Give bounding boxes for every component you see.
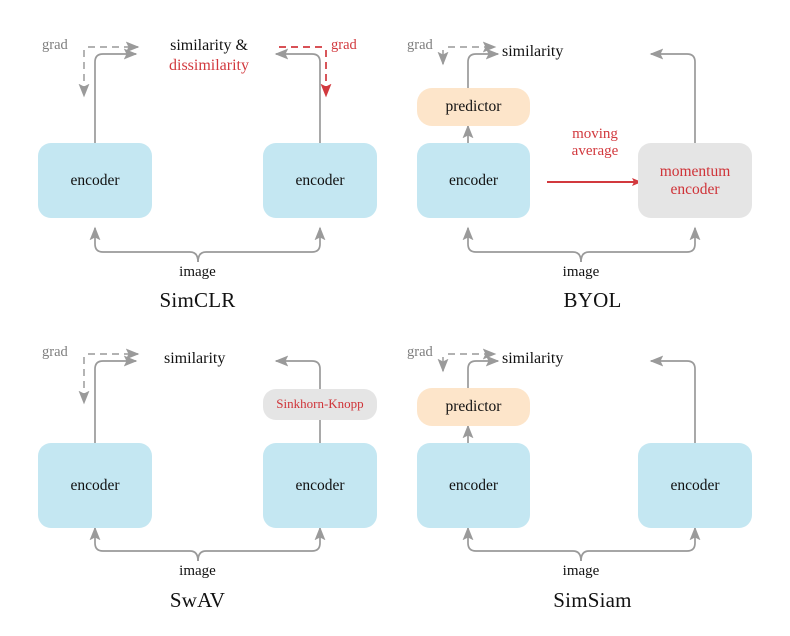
simclr-encoder-right-label: encoder — [295, 172, 344, 189]
simsiam-image-label: image — [395, 563, 767, 580]
byol-momentum-line1: momentum — [660, 163, 731, 180]
swav-title: SwAV — [0, 588, 395, 613]
byol-encoder[interactable]: encoder — [417, 143, 530, 218]
wire-right-encoder-to-similarity — [276, 54, 320, 143]
wire-image-to-right-encoder — [198, 228, 320, 262]
byol-title: BYOL — [395, 288, 790, 313]
byol-wire-predictor-to-similarity — [468, 54, 498, 88]
byol-wire-image-to-momentum — [581, 228, 695, 262]
byol-momentum-line2: encoder — [670, 181, 719, 198]
byol-momentum-encoder[interactable]: momentum encoder — [638, 143, 752, 218]
swav-sinkhorn-label: Sinkhorn-Knopp — [276, 397, 363, 412]
simsiam-grad-label: grad — [407, 344, 433, 361]
swav-image-label: image — [0, 563, 395, 580]
simclr-objective-label: similarity & dissimilarity — [155, 36, 263, 75]
panel-simsiam: predictor encoder encoder grad similarit… — [395, 318, 790, 636]
swav-sinkhorn-knopp[interactable]: Sinkhorn-Knopp — [263, 389, 377, 420]
swav-encoder-left-label: encoder — [70, 477, 119, 494]
byol-moving-line1: moving — [545, 126, 645, 143]
simclr-encoder-left-label: encoder — [70, 172, 119, 189]
byol-moving-average-label: moving average — [545, 126, 645, 161]
swav-encoder-left[interactable]: encoder — [38, 443, 152, 528]
panel-byol: predictor encoder momentum encoder grad … — [395, 0, 790, 318]
simsiam-wire-predictor-to-similarity — [468, 361, 498, 388]
byol-predictor-label: predictor — [446, 98, 502, 115]
swav-grad-label: grad — [42, 344, 68, 361]
swav-encoder-right[interactable]: encoder — [263, 443, 377, 528]
byol-predictor[interactable]: predictor — [417, 88, 530, 126]
simclr-objective-line2: dissimilarity — [155, 56, 263, 76]
simclr-objective-line1: similarity & — [170, 37, 248, 54]
simsiam-encoder-left[interactable]: encoder — [417, 443, 530, 528]
simclr-grad-right-label: grad — [331, 37, 357, 54]
byol-image-label: image — [395, 264, 767, 281]
panel-swav: Sinkhorn-Knopp encoder encoder grad simi… — [0, 318, 395, 636]
panel-simclr: encoder encoder grad grad similarity & d… — [0, 0, 395, 318]
simclr-encoder-right[interactable]: encoder — [263, 143, 377, 218]
simclr-title: SimCLR — [0, 288, 395, 313]
byol-grad-label: grad — [407, 37, 433, 54]
simclr-grad-left-label: grad — [42, 37, 68, 54]
swav-wire-left-encoder-to-similarity — [95, 361, 136, 443]
simsiam-wire-right-encoder-to-similarity — [651, 361, 695, 443]
swav-wire-image-to-left-encoder — [95, 528, 198, 561]
simsiam-encoder-right[interactable]: encoder — [638, 443, 752, 528]
byol-wire-momentum-to-similarity — [651, 54, 695, 143]
byol-objective-label: similarity — [502, 43, 563, 61]
simsiam-objective-label: similarity — [502, 350, 563, 368]
wire-image-to-left-encoder — [95, 228, 198, 262]
simsiam-title: SimSiam — [395, 588, 790, 613]
simclr-image-label: image — [0, 264, 395, 281]
byol-encoder-label: encoder — [449, 172, 498, 189]
swav-wire-image-to-right-encoder — [198, 528, 320, 561]
simsiam-encoder-right-label: encoder — [670, 477, 719, 494]
byol-wire-image-to-encoder — [468, 228, 581, 262]
wire-left-encoder-to-similarity — [95, 54, 136, 143]
simsiam-predictor-label: predictor — [446, 398, 502, 415]
simsiam-wire-image-to-right-encoder — [581, 528, 695, 561]
simclr-encoder-left[interactable]: encoder — [38, 143, 152, 218]
swav-encoder-right-label: encoder — [295, 477, 344, 494]
simsiam-encoder-left-label: encoder — [449, 477, 498, 494]
byol-moving-line2: average — [545, 143, 645, 160]
ssl-methods-figure: encoder encoder grad grad similarity & d… — [0, 0, 790, 636]
simsiam-predictor[interactable]: predictor — [417, 388, 530, 426]
simsiam-wire-image-to-left-encoder — [468, 528, 581, 561]
swav-objective-label: similarity — [164, 350, 225, 368]
